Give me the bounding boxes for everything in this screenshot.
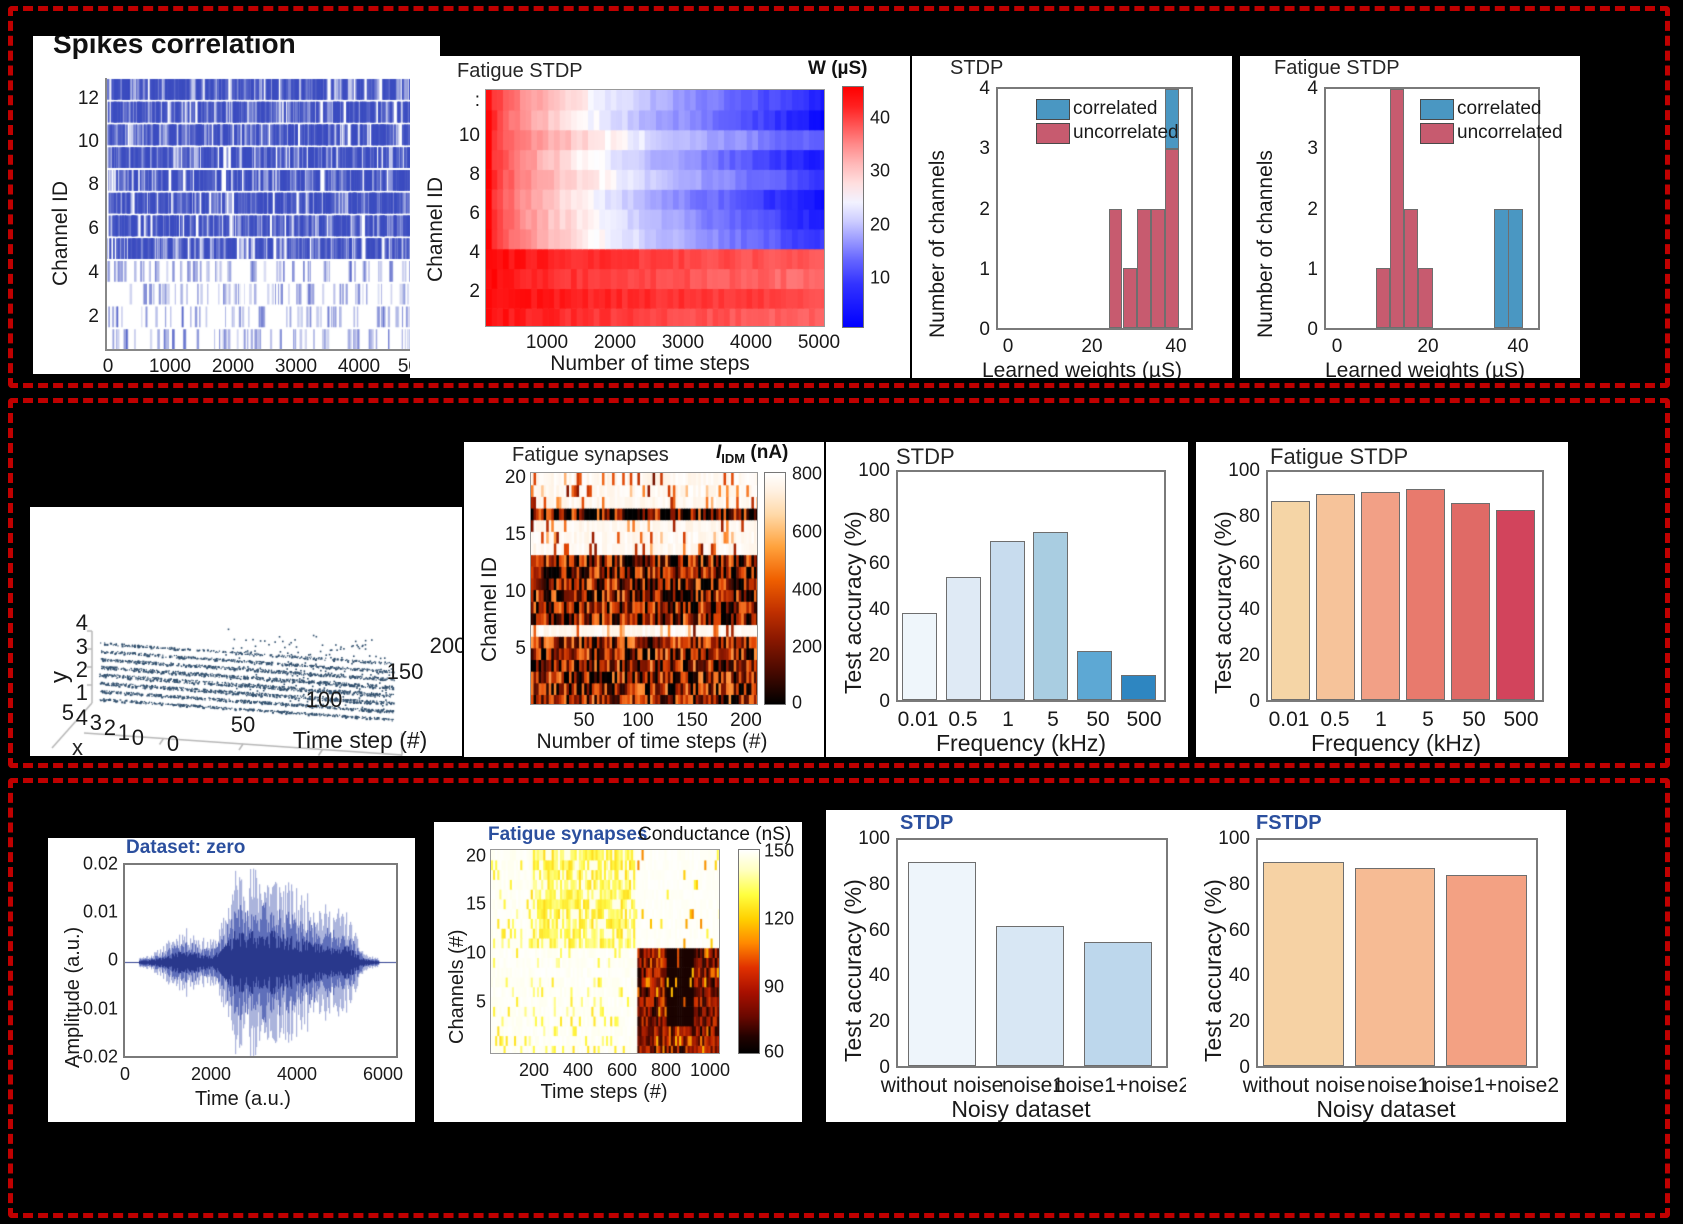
hist-bar: [1165, 149, 1179, 328]
ytick-sn-80: 80: [846, 874, 890, 896]
bar: [1406, 489, 1446, 700]
legend-stdp-weights: correlated uncorrelated: [1036, 98, 1179, 146]
panel-event-pattern: y x 4 3 2 1 5 4 3 2 1 0 0 50 100 150 200…: [30, 507, 462, 756]
legend-swatch-correlated: [1036, 99, 1070, 120]
panel-title-stdp-noisy: STDP: [900, 812, 953, 835]
panel-stdp-learned-weights: STDP Number of channels correlated uncor…: [912, 56, 1232, 378]
xtick-spike-0: 0: [103, 356, 114, 374]
ytick-sf-40: 40: [846, 599, 890, 621]
ytick-stdpw-2: 2: [964, 199, 990, 221]
ytick-spike-6: 6: [69, 218, 99, 240]
legend-row-correlated-2: correlated: [1420, 98, 1563, 120]
ytick-wmap-12: :: [454, 90, 480, 112]
xtick-sn-2: noise1+noise2: [1054, 1074, 1186, 1098]
colorbar-idm: [764, 472, 786, 705]
xtick-ep-200: 200: [430, 633, 462, 659]
xtick-idm-200: 200: [730, 710, 762, 732]
colorbar-idm-600: 600: [792, 522, 822, 543]
panel-stdp-noisy: STDP Test accuracy (%) 100 80 60 40 20 0…: [826, 810, 1186, 1122]
bar: [1271, 501, 1311, 700]
xtick-sf-0: 0.01: [898, 708, 939, 732]
xtick-stdpw-20: 20: [1081, 336, 1102, 358]
colorbar-cond-150: 150: [764, 841, 794, 862]
hist-bar: [1390, 89, 1404, 328]
hist-bar: [1151, 209, 1165, 329]
xtick-idm-150: 150: [676, 710, 708, 732]
xtick-stdpw-40: 40: [1165, 336, 1186, 358]
idm-heatmap-canvas: [531, 473, 758, 705]
panel-title-stdp-frequency: STDP: [896, 444, 955, 470]
ytick-stdpw-1: 1: [964, 259, 990, 281]
ytick-ff-60: 60: [1216, 553, 1260, 575]
legend-row-uncorrelated: uncorrelated: [1036, 122, 1179, 144]
axes-fstdp-noisy: [1256, 838, 1538, 1068]
colorbar-idm-0: 0: [792, 693, 802, 714]
colorbar-label-idm: IIDM (nA): [716, 442, 788, 466]
xtick-dz-0: 0: [120, 1064, 130, 1085]
colorbar-label-idm-unit: (nA): [745, 442, 788, 463]
xtick-wmap-4000: 4000: [730, 332, 772, 354]
panel-fatigue-stdp-map: Fatigue STDP Channel ID : 10 8 6 4 2 100…: [410, 56, 910, 378]
ytick-idm-10: 10: [496, 581, 526, 603]
ytick-spike-12: 12: [69, 88, 99, 110]
ytick-fn-100: 100: [1206, 828, 1250, 850]
xtick-ep-100: 100: [306, 687, 343, 713]
panel-fatigue-synapses-idm: Fatigue synapses Channel ID 20 15 10 5 5…: [464, 442, 824, 757]
legend-row-correlated: correlated: [1036, 98, 1179, 120]
panel-title-fatigue-synapses-cond: Fatigue synapses: [488, 824, 647, 846]
panel-title-fatigue-synapses-idm: Fatigue synapses: [512, 444, 669, 467]
xtick-ff-0: 0.01: [1269, 708, 1310, 732]
ytick-ff-80: 80: [1216, 506, 1260, 528]
axes-fatigue-synapses-cond: [490, 849, 720, 1054]
panel-fstdp-noisy: FSTDP Test accuracy (%) 100 80 60 40 20 …: [1186, 810, 1566, 1122]
axes-spike-raster: [105, 78, 423, 351]
spike-raster-canvas: [107, 78, 423, 351]
xtick-fn-1: noise1: [1367, 1074, 1429, 1098]
ytick-stdpw-0: 0: [964, 319, 990, 341]
bar: [1263, 862, 1343, 1066]
bar: [1084, 942, 1153, 1066]
panel-spike-raster: Spikes correlation Channel ID 12 10 8 6 …: [33, 36, 440, 374]
xlabel-fstdp-weights: Learned weights (µS): [1280, 359, 1570, 378]
hist-bar: [1494, 209, 1508, 329]
panel-title-fstdp-frequency: Fatigue STDP: [1270, 444, 1408, 470]
colorbar-cond-60: 60: [764, 1042, 784, 1063]
xtick-fstdpw-0: 0: [1332, 336, 1343, 358]
bar: [908, 862, 977, 1066]
colorbar-tick-20: 20: [870, 215, 890, 236]
ytick-dz-m001: -0.01: [56, 999, 118, 1020]
ytick-sf-20: 20: [846, 645, 890, 667]
colorbar-idm-400: 400: [792, 580, 822, 601]
ytick-ep-4: 4: [64, 610, 88, 636]
xlabel-fstdp-noisy: Noisy dataset: [1226, 1096, 1546, 1122]
xtick-spike-2000: 2000: [212, 356, 254, 374]
ytick-ff-100: 100: [1216, 460, 1260, 482]
xtick-ff-1: 0.5: [1320, 708, 1349, 732]
ytick-idm-15: 15: [496, 524, 526, 546]
xtick-cd-600: 600: [607, 1060, 637, 1081]
axes-dataset-zero: [123, 863, 398, 1058]
hist-bar: [1123, 268, 1137, 328]
ytick-cd-5: 5: [458, 992, 486, 1013]
panel-fstdp-learned-weights: Fatigue STDP Number of channels correlat…: [1240, 56, 1580, 378]
ytick-wmap-8: 8: [450, 164, 480, 186]
ytick-idm-5: 5: [496, 638, 526, 660]
axes-fatigue-stdp-map: [485, 89, 825, 327]
xtick-fstdpw-40: 40: [1507, 336, 1528, 358]
xtick-spike-1000: 1000: [149, 356, 191, 374]
ytick-sn-100: 100: [846, 828, 890, 850]
xtick-idm-50: 50: [573, 710, 594, 732]
xtick-spike-4000: 4000: [338, 356, 380, 374]
bar: [1355, 868, 1435, 1066]
panel-title-fstdp-weights: Fatigue STDP: [1274, 57, 1400, 80]
colorbar-label-idm-sub: IDM: [721, 451, 745, 466]
legend-row-uncorrelated-2: uncorrelated: [1420, 122, 1563, 144]
legend-swatch-correlated-2: [1420, 99, 1454, 120]
hist-bar: [1508, 209, 1522, 329]
axes-fstdp-frequency: [1266, 470, 1544, 702]
waveform-canvas: [125, 865, 398, 1058]
xtick-cd-800: 800: [651, 1060, 681, 1081]
ytick-fn-60: 60: [1206, 920, 1250, 942]
xlabel-fatigue-stdp-map: Number of time steps: [450, 352, 850, 376]
ytick-dz-0: 0: [56, 950, 118, 971]
xtick-sf-2: 1: [1002, 708, 1014, 732]
panel-fstdp-frequency: Fatigue STDP Test accuracy (%) 100 80 60…: [1196, 442, 1568, 757]
xtick-spike-3000: 3000: [275, 356, 317, 374]
panel-fatigue-synapses-conductance: Fatigue synapses Conductance (nS) Channe…: [434, 822, 802, 1122]
colorbar-w: [842, 86, 864, 328]
xtick-wmap-5000: 5000: [798, 332, 840, 354]
axes-stdp-noisy: [896, 838, 1168, 1068]
ytick-spike-4: 4: [69, 262, 99, 284]
ytick-sn-40: 40: [846, 965, 890, 987]
ytick-sf-60: 60: [846, 553, 890, 575]
panel-stdp-frequency: STDP Test accuracy (%) 100 80 60 40 20 0…: [826, 442, 1188, 757]
ytick-sf-80: 80: [846, 506, 890, 528]
xtick-cd-1000: 1000: [690, 1060, 730, 1081]
ytick-spike-2: 2: [69, 306, 99, 328]
ytick-sf-100: 100: [846, 460, 890, 482]
colorbar-tick-10: 10: [870, 268, 890, 289]
conductance-heatmap-canvas: [491, 850, 720, 1054]
xtick-dz-2000: 2000: [191, 1064, 231, 1085]
legend-swatch-uncorrelated-2: [1420, 123, 1454, 144]
ytick-sf-0: 0: [846, 691, 890, 713]
xlabel-stdp-frequency: Frequency (kHz): [866, 730, 1176, 757]
xlabel-fstdp-frequency: Frequency (kHz): [1236, 730, 1556, 757]
xtick-idm-100: 100: [622, 710, 654, 732]
axes-stdp-frequency: [896, 470, 1166, 702]
ytick-wmap-6: 6: [450, 203, 480, 225]
xtick-sn-0: without noise: [881, 1074, 1004, 1098]
xtick-wmap-1000: 1000: [526, 332, 568, 354]
weight-heatmap-canvas: [486, 90, 825, 327]
ytick-sn-60: 60: [846, 920, 890, 942]
xtick-sf-1: 0.5: [948, 708, 977, 732]
ytick-stdpw-4: 4: [964, 78, 990, 100]
bar: [946, 577, 981, 700]
hist-bar: [1109, 209, 1123, 329]
ytick-cd-15: 15: [458, 894, 486, 915]
ytick-dz-001: 0.01: [56, 902, 118, 923]
zlabel-event-pattern: x: [72, 735, 83, 756]
ytick-spike-8: 8: [69, 174, 99, 196]
xlabel-stdp-noisy: Noisy dataset: [866, 1096, 1176, 1122]
ylabel-fatigue-stdp-map: Channel ID: [424, 177, 448, 282]
ytick-ff-40: 40: [1216, 599, 1260, 621]
hist-bar: [1418, 268, 1432, 328]
xtick-ff-3: 5: [1422, 708, 1434, 732]
xlabel-stdp-weights: Learned weights (µS): [942, 359, 1222, 378]
bar: [1496, 510, 1536, 700]
ytick-fstdpw-3: 3: [1292, 138, 1318, 160]
panel-dataset-zero: Dataset: zero Amplitude (a.u.) 0.02 0.01…: [48, 838, 415, 1122]
ytick-wmap-10: 10: [450, 125, 480, 147]
xtick-stdpw-0: 0: [1003, 336, 1014, 358]
ytick-ff-0: 0: [1216, 691, 1260, 713]
xtick-cd-400: 400: [563, 1060, 593, 1081]
xtick-ep-150: 150: [387, 659, 424, 685]
bar: [1361, 492, 1401, 700]
hist-bar: [1376, 268, 1390, 328]
bar: [1451, 503, 1491, 700]
colorbar-tick-30: 30: [870, 161, 890, 182]
ytick-fn-20: 20: [1206, 1011, 1250, 1033]
xtick-ep-50: 50: [231, 712, 255, 738]
xtick-cd-200: 200: [519, 1060, 549, 1081]
panel-title-dataset-zero: Dataset: zero: [126, 838, 245, 859]
legend-label-uncorrelated-2: uncorrelated: [1457, 122, 1563, 144]
xtick-sf-3: 5: [1047, 708, 1059, 732]
legend-label-uncorrelated: uncorrelated: [1073, 122, 1179, 144]
xtick-wmap-3000: 3000: [662, 332, 704, 354]
panel-title-stdp-weights: STDP: [950, 57, 1003, 80]
bar: [1316, 494, 1356, 700]
xtick-fstdpw-20: 20: [1417, 336, 1438, 358]
xtick-dz-6000: 6000: [363, 1064, 403, 1085]
xtick-sf-5: 500: [1126, 708, 1161, 732]
axes-fatigue-synapses-idm: [530, 472, 758, 705]
ytick-fstdpw-2: 2: [1292, 199, 1318, 221]
xtick-ep-0: 0: [167, 731, 179, 756]
panel-title-fstdp-noisy: FSTDP: [1256, 812, 1322, 835]
ytick-ff-20: 20: [1216, 645, 1260, 667]
bar: [996, 926, 1065, 1066]
panel-title-spike-raster: Spikes correlation: [53, 36, 296, 60]
ytick-fn-80: 80: [1206, 874, 1250, 896]
colorbar-idm-800: 800: [792, 464, 822, 485]
ylabel-stdp-weights: Number of channels: [926, 150, 950, 338]
xtick-ff-4: 50: [1462, 708, 1485, 732]
xlabel-event-pattern: Time step (#): [260, 727, 460, 754]
ylabel-fstdp-weights: Number of channels: [1254, 150, 1278, 338]
xlabel-fatigue-synapses-cond: Time steps (#): [464, 1081, 744, 1104]
ytick-spike-10: 10: [69, 131, 99, 153]
bar: [1446, 875, 1526, 1066]
ztick-ep-0: 0: [124, 725, 144, 751]
xlabel-dataset-zero: Time (a.u.): [88, 1088, 398, 1111]
xtick-sf-4: 50: [1086, 708, 1109, 732]
colorbar-label-w: W (µS): [808, 58, 868, 80]
colorbar-idm-200: 200: [792, 637, 822, 658]
bar: [1077, 651, 1112, 700]
legend-fstdp-weights: correlated uncorrelated: [1420, 98, 1563, 146]
ytick-dz-m002: -0.02: [56, 1047, 118, 1068]
figure-root: Spikes correlation Channel ID 12 10 8 6 …: [0, 0, 1683, 1224]
ytick-cd-20: 20: [458, 846, 486, 867]
ytick-fstdpw-0: 0: [1292, 319, 1318, 341]
bar: [1033, 532, 1068, 700]
bar: [1121, 675, 1156, 700]
ytick-idm-20: 20: [496, 467, 526, 489]
hist-bar: [1404, 209, 1418, 329]
ytick-sn-20: 20: [846, 1011, 890, 1033]
colorbar-conductance: [738, 849, 760, 1054]
ytick-stdpw-3: 3: [964, 138, 990, 160]
colorbar-tick-40: 40: [870, 108, 890, 129]
xtick-ff-5: 500: [1503, 708, 1538, 732]
legend-label-correlated-2: correlated: [1457, 98, 1542, 120]
ytick-dz-002: 0.02: [56, 854, 118, 875]
ytick-wmap-2: 2: [450, 281, 480, 303]
xtick-fn-0: without noise: [1243, 1074, 1366, 1098]
panel-title-fatigue-stdp-map: Fatigue STDP: [457, 60, 583, 83]
ytick-wmap-4: 4: [450, 242, 480, 264]
legend-label-correlated: correlated: [1073, 98, 1158, 120]
ytick-fn-40: 40: [1206, 965, 1250, 987]
xtick-ff-2: 1: [1375, 708, 1387, 732]
legend-swatch-uncorrelated: [1036, 123, 1070, 144]
xtick-fn-2: noise1+noise2: [1423, 1074, 1559, 1098]
bar: [990, 541, 1025, 700]
ytick-fstdpw-4: 4: [1292, 78, 1318, 100]
hist-bar: [1137, 209, 1151, 329]
xtick-wmap-2000: 2000: [594, 332, 636, 354]
xtick-dz-4000: 4000: [277, 1064, 317, 1085]
ytick-fstdpw-1: 1: [1292, 259, 1318, 281]
bar: [902, 613, 937, 700]
colorbar-cond-90: 90: [764, 977, 784, 998]
colorbar-cond-120: 120: [764, 909, 794, 930]
ytick-cd-10: 10: [458, 943, 486, 964]
xlabel-fatigue-synapses-idm: Number of time steps (#): [492, 730, 812, 754]
